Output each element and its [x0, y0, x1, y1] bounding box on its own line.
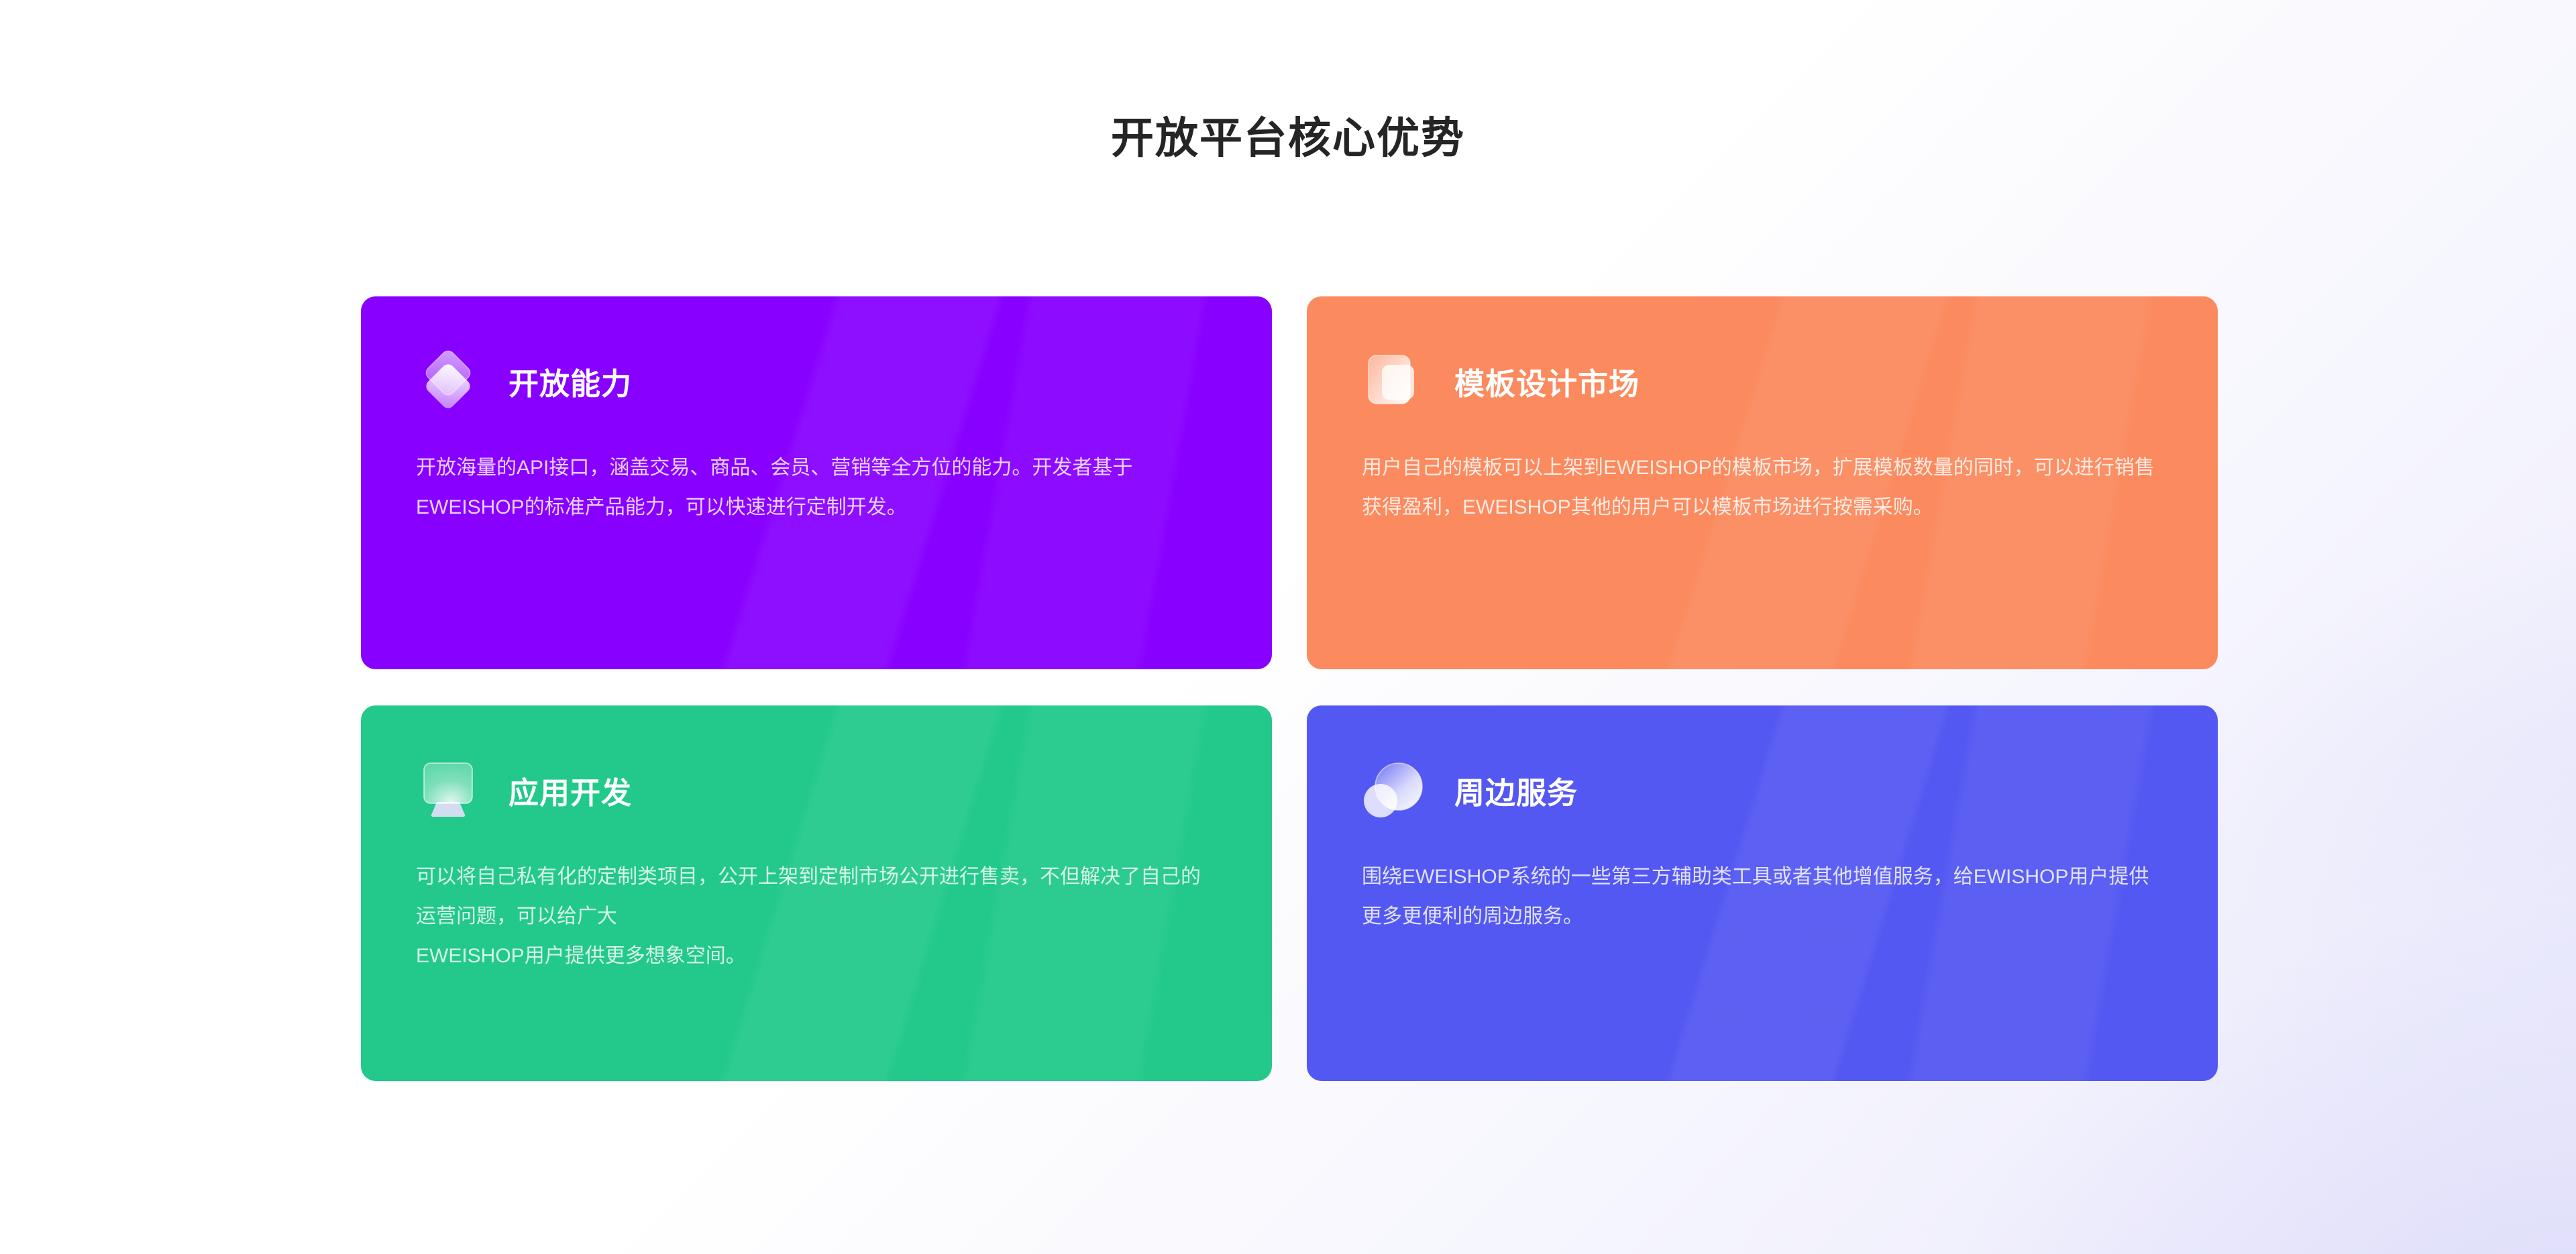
card-description: 用户自己的模板可以上架到EWEISHOP的模板市场，扩展模板数量的同时，可以进行…: [1362, 448, 2163, 527]
card-title: 开放能力: [508, 359, 632, 403]
card-header: 模板设计市场: [1362, 349, 2163, 413]
circles-icon: [1362, 758, 1426, 822]
feature-card-grid: 开放能力 开放海量的API接口，涵盖交易、商品、会员、营销等全方位的能力。开发者…: [361, 296, 2218, 1081]
monitor-icon: [416, 758, 480, 822]
page-title: 开放平台核心优势: [0, 104, 2576, 166]
card-description: 可以将自己私有化的定制类项目，公开上架到定制市场公开进行售卖，不但解决了自己的运…: [416, 857, 1217, 976]
feature-highlights-section: 开放平台核心优势: [0, 0, 2576, 1254]
stacked-cards-icon: [1362, 349, 1426, 413]
feature-card-template-design-market[interactable]: 模板设计市场 用户自己的模板可以上架到EWEISHOP的模板市场，扩展模板数量的…: [1307, 296, 2218, 669]
card-title: 周边服务: [1454, 768, 1578, 812]
card-description: 开放海量的API接口，涵盖交易、商品、会员、营销等全方位的能力。开发者基于EWE…: [416, 448, 1217, 527]
feature-card-app-development[interactable]: 应用开发 可以将自己私有化的定制类项目，公开上架到定制市场公开进行售卖，不但解决…: [361, 705, 1272, 1081]
card-description: 围绕EWEISHOP系统的一些第三方辅助类工具或者其他增值服务，给EWISHOP…: [1362, 857, 2163, 936]
feature-card-open-capability[interactable]: 开放能力 开放海量的API接口，涵盖交易、商品、会员、营销等全方位的能力。开发者…: [361, 296, 1272, 669]
card-title: 模板设计市场: [1454, 359, 1640, 403]
card-header: 开放能力: [416, 349, 1217, 413]
card-header: 应用开发: [416, 758, 1217, 822]
feature-card-peripheral-services[interactable]: 周边服务 围绕EWEISHOP系统的一些第三方辅助类工具或者其他增值服务，给EW…: [1307, 705, 2218, 1081]
layers-icon: [416, 349, 480, 413]
card-header: 周边服务: [1362, 758, 2163, 822]
card-title: 应用开发: [508, 768, 632, 812]
